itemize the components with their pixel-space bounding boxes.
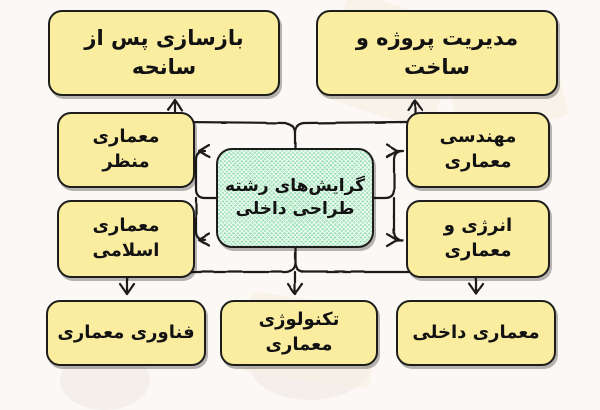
node-label: معماری داخلی (412, 321, 539, 346)
node-label: تکنولوژی معماری (228, 308, 370, 358)
node-label: فناوری معماری (57, 321, 194, 346)
node-architectural-engineering[interactable]: مهندسی معماری (406, 112, 550, 188)
node-energy-and-architecture[interactable]: انرژی و معماری (406, 200, 550, 278)
node-technology-of-architecture[interactable]: تکنولوژی معماری (220, 300, 378, 366)
node-label: انرژی و معماری (444, 214, 512, 264)
node-label: معماری منظر (93, 125, 160, 175)
node-label: مهندسی معماری (440, 125, 517, 175)
node-label: بازسازی پس از سانحه (56, 24, 272, 82)
diagram-canvas: بازسازی پس از سانحه مدیریت پروژه و ساخت … (0, 0, 600, 400)
node-interior-architecture[interactable]: معماری داخلی (396, 300, 556, 366)
node-landscape-architecture[interactable]: معماری منظر (57, 112, 195, 188)
node-label: معماری اسلامی (93, 214, 160, 264)
center-node-label: گرایش‌های رشته طراحی داخلی (225, 175, 365, 222)
node-project-and-construction-management[interactable]: مدیریت پروژه و ساخت (316, 10, 558, 96)
node-islamic-architecture[interactable]: معماری اسلامی (57, 200, 195, 278)
node-post-disaster-reconstruction[interactable]: بازسازی پس از سانحه (48, 10, 280, 96)
node-center-interior-design-specializations[interactable]: گرایش‌های رشته طراحی داخلی (216, 148, 374, 248)
node-architectural-technology[interactable]: فناوری معماری (46, 300, 206, 366)
node-label: مدیریت پروژه و ساخت (324, 24, 550, 82)
